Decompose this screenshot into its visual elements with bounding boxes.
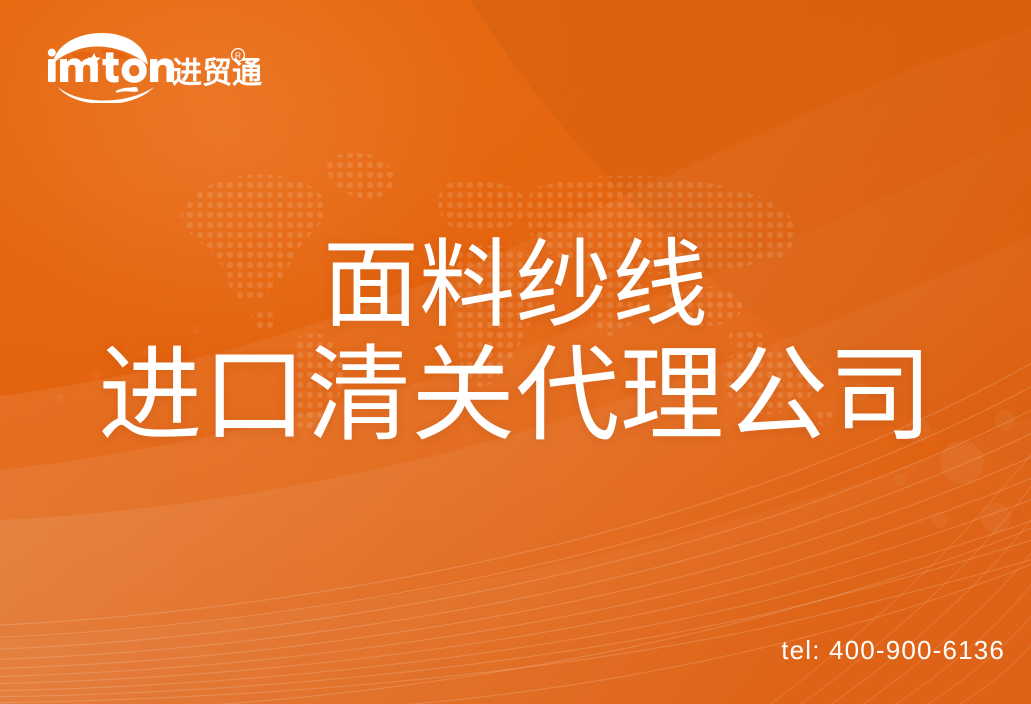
brand-logo-svg: R 进贸通 (42, 31, 262, 103)
swoosh-bird-icon (58, 87, 154, 103)
logo-chinese-name: 进贸通 (172, 57, 262, 90)
brand-logo[interactable]: R 进贸通 (42, 31, 262, 103)
headline-line-1: 面料纱线 (0, 232, 1031, 340)
promo-banner: R 进贸通 面料纱线 进口清关代理公司 tel: 400-900-6136 (0, 0, 1031, 704)
contact-phone[interactable]: tel: 400-900-6136 (781, 635, 1005, 666)
page-title: 面料纱线 进口清关代理公司 (0, 232, 1031, 456)
headline-line-2: 进口清关代理公司 (0, 338, 1031, 456)
